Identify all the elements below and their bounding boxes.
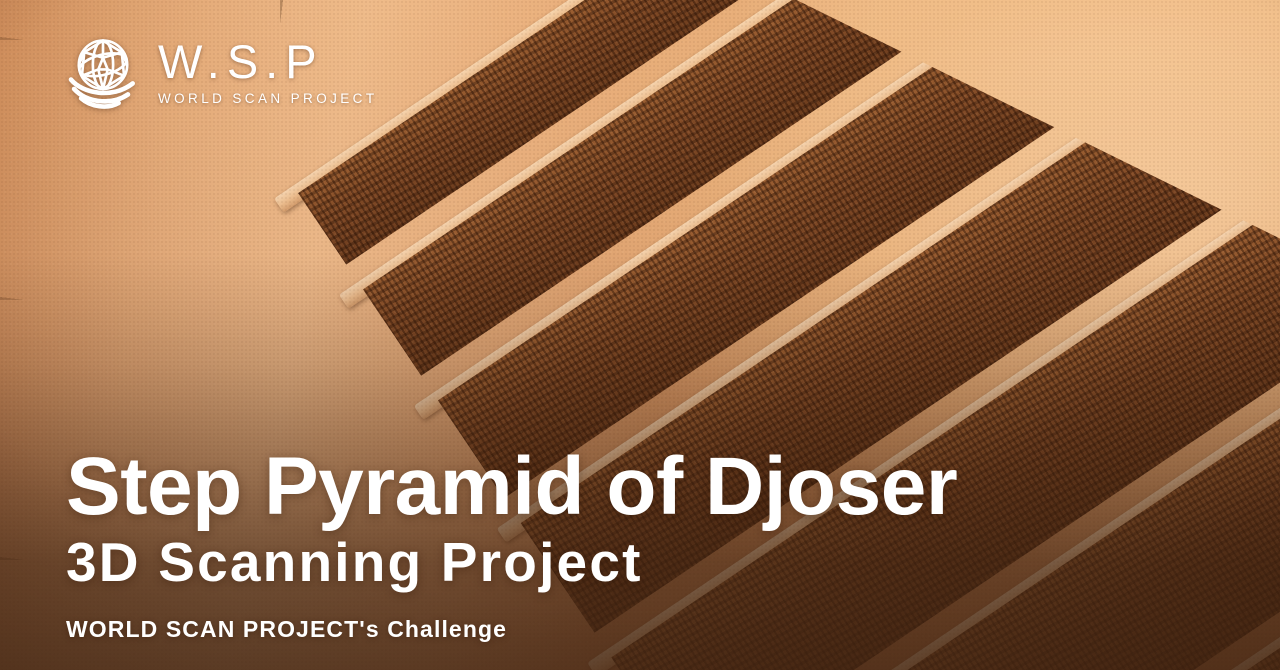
wsp-globe-icon bbox=[64, 32, 142, 110]
brand-full-name: WORLD SCAN PROJECT bbox=[158, 92, 377, 106]
project-tagline: WORLD SCAN PROJECT's Challenge bbox=[66, 617, 1206, 642]
headline-block: Step Pyramid of Djoser 3D Scanning Proje… bbox=[66, 445, 1206, 642]
brand-initials: W.S.P bbox=[158, 39, 377, 85]
project-subtitle: 3D Scanning Project bbox=[66, 532, 1206, 593]
project-title: Step Pyramid of Djoser bbox=[66, 445, 1206, 529]
brand-lockup: W.S.P WORLD SCAN PROJECT bbox=[64, 32, 377, 110]
brand-wordmark: W.S.P WORLD SCAN PROJECT bbox=[158, 37, 377, 106]
overlay-content: W.S.P WORLD SCAN PROJECT Step Pyramid of… bbox=[0, 0, 1280, 670]
video-thumbnail: W.S.P WORLD SCAN PROJECT Step Pyramid of… bbox=[0, 0, 1280, 670]
